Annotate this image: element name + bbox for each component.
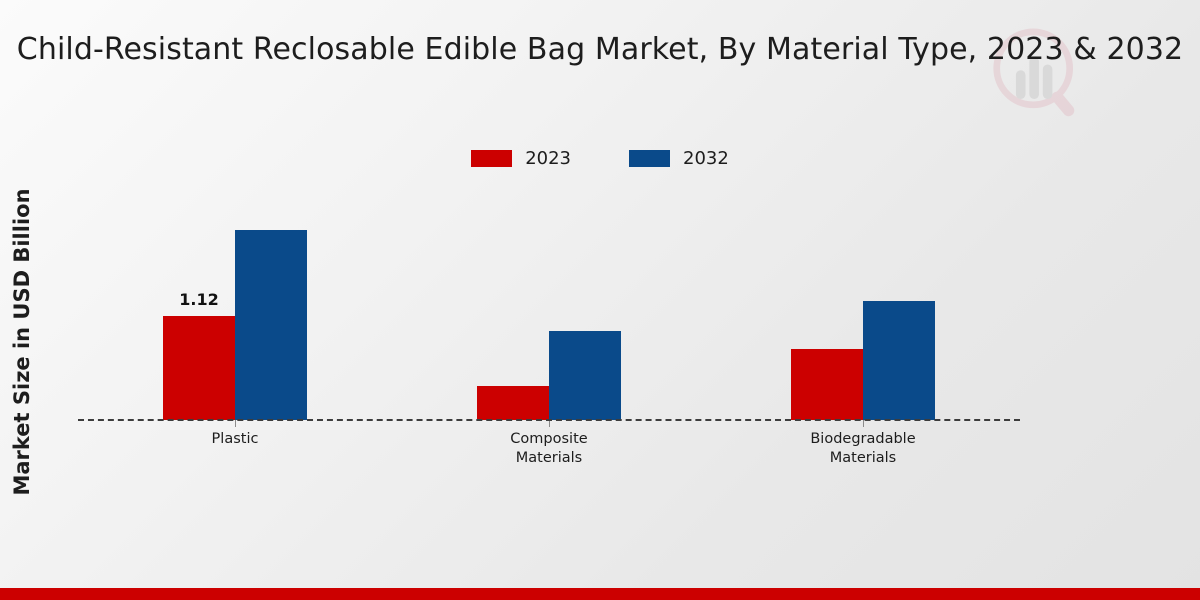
legend-label-2032: 2032: [683, 148, 729, 169]
x-tick-plastic: [235, 420, 236, 427]
x-axis-baseline: [78, 419, 1020, 421]
x-label-line: Plastic: [125, 430, 345, 449]
legend-label-2023: 2023: [525, 148, 571, 169]
x-label-line: Composite: [439, 430, 659, 449]
bars-biodegradable-materials: [706, 200, 1020, 420]
bar-group-biodegradable-materials: Biodegradable Materials: [706, 200, 1020, 420]
x-label-plastic: Plastic: [125, 430, 345, 449]
bar-2032-plastic[interactable]: [235, 230, 307, 420]
legend-item-2032[interactable]: 2032: [629, 148, 729, 169]
x-label-line: Materials: [753, 449, 973, 468]
chart-title: Child-Resistant Reclosable Edible Bag Ma…: [0, 32, 1200, 67]
bar-2023-biodegradable-materials[interactable]: [791, 349, 863, 420]
bar-2023-composite-materials[interactable]: [477, 386, 549, 420]
legend-swatch-2032: [629, 150, 670, 167]
bar-2032-composite-materials[interactable]: [549, 331, 621, 420]
x-label-composite-materials: Composite Materials: [439, 430, 659, 468]
x-label-biodegradable-materials: Biodegradable Materials: [753, 430, 973, 468]
footer-accent-bar: [0, 588, 1200, 600]
bars-plastic: 1.12: [78, 200, 392, 420]
bar-group-composite-materials: Composite Materials: [392, 200, 706, 420]
bar-group-plastic: 1.12 Plastic: [78, 200, 392, 420]
chart-legend: 2023 2032: [0, 148, 1200, 169]
y-axis-title: Market Size in USD Billion: [10, 132, 34, 552]
chart-canvas: Child-Resistant Reclosable Edible Bag Ma…: [0, 0, 1200, 600]
x-label-line: Materials: [439, 449, 659, 468]
bars-composite-materials: [392, 200, 706, 420]
x-tick-biodegradable-materials: [863, 420, 864, 427]
x-label-line: Biodegradable: [753, 430, 973, 449]
legend-swatch-2023: [471, 150, 512, 167]
plot-area: 1.12 Plastic Composite Materials: [78, 200, 1020, 420]
x-tick-composite-materials: [549, 420, 550, 427]
bar-groups: 1.12 Plastic Composite Materials: [78, 200, 1020, 420]
bar-value-label: 1.12: [179, 290, 218, 309]
bar-2032-biodegradable-materials[interactable]: [863, 301, 935, 420]
legend-item-2023[interactable]: 2023: [471, 148, 571, 169]
bar-2023-plastic[interactable]: 1.12: [163, 316, 235, 420]
